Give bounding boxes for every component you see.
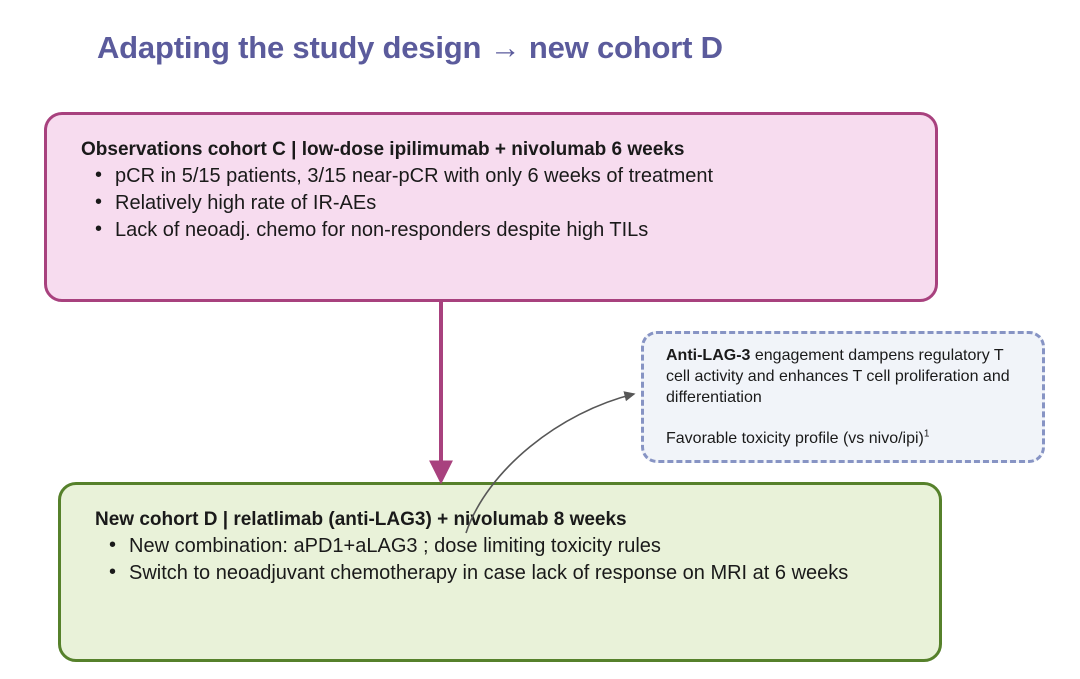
cohort-c-card: Observations cohort C | low-dose ipilimu… — [44, 112, 938, 302]
lag3-note-paragraph-2: Favorable toxicity profile (vs nivo/ipi)… — [666, 429, 1028, 450]
list-item: New combination: aPD1+aLAG3 ; dose limit… — [129, 533, 923, 559]
footnote-marker: 1 — [924, 429, 930, 440]
cohort-d-bullet-list: New combination: aPD1+aLAG3 ; dose limit… — [95, 533, 923, 586]
lag3-note-bold-lead: Anti-LAG-3 — [666, 347, 750, 364]
lag3-note-paragraph-1: Anti-LAG-3 engagement dampens regulatory… — [666, 346, 1028, 408]
cohort-c-bullet-list: pCR in 5/15 patients, 3/15 near-pCR with… — [81, 163, 919, 243]
cohort-c-heading: Observations cohort C | low-dose ipilimu… — [81, 137, 919, 162]
page-title: Adapting the study design → new cohort D — [97, 29, 957, 68]
cohort-d-heading: New cohort D | relatlimab (anti-LAG3) + … — [95, 507, 923, 532]
list-item: Relatively high rate of IR-AEs — [115, 190, 919, 216]
cohort-d-body: New cohort D | relatlimab (anti-LAG3) + … — [95, 507, 923, 587]
list-item: Lack of neoadj. chemo for non-responders… — [115, 217, 919, 243]
cohort-d-card: New cohort D | relatlimab (anti-LAG3) + … — [58, 482, 942, 662]
lag3-note-paragraph-2-text: Favorable toxicity profile (vs nivo/ipi) — [666, 430, 924, 447]
lag3-note-body: Anti-LAG-3 engagement dampens regulatory… — [666, 346, 1028, 450]
list-item: pCR in 5/15 patients, 3/15 near-pCR with… — [115, 163, 919, 189]
list-item: Switch to neoadjuvant chemotherapy in ca… — [129, 560, 923, 586]
lag3-note-card: Anti-LAG-3 engagement dampens regulatory… — [641, 331, 1045, 463]
cohort-c-body: Observations cohort C | low-dose ipilimu… — [81, 137, 919, 244]
slide-canvas: Adapting the study design → new cohort D… — [0, 0, 1080, 679]
